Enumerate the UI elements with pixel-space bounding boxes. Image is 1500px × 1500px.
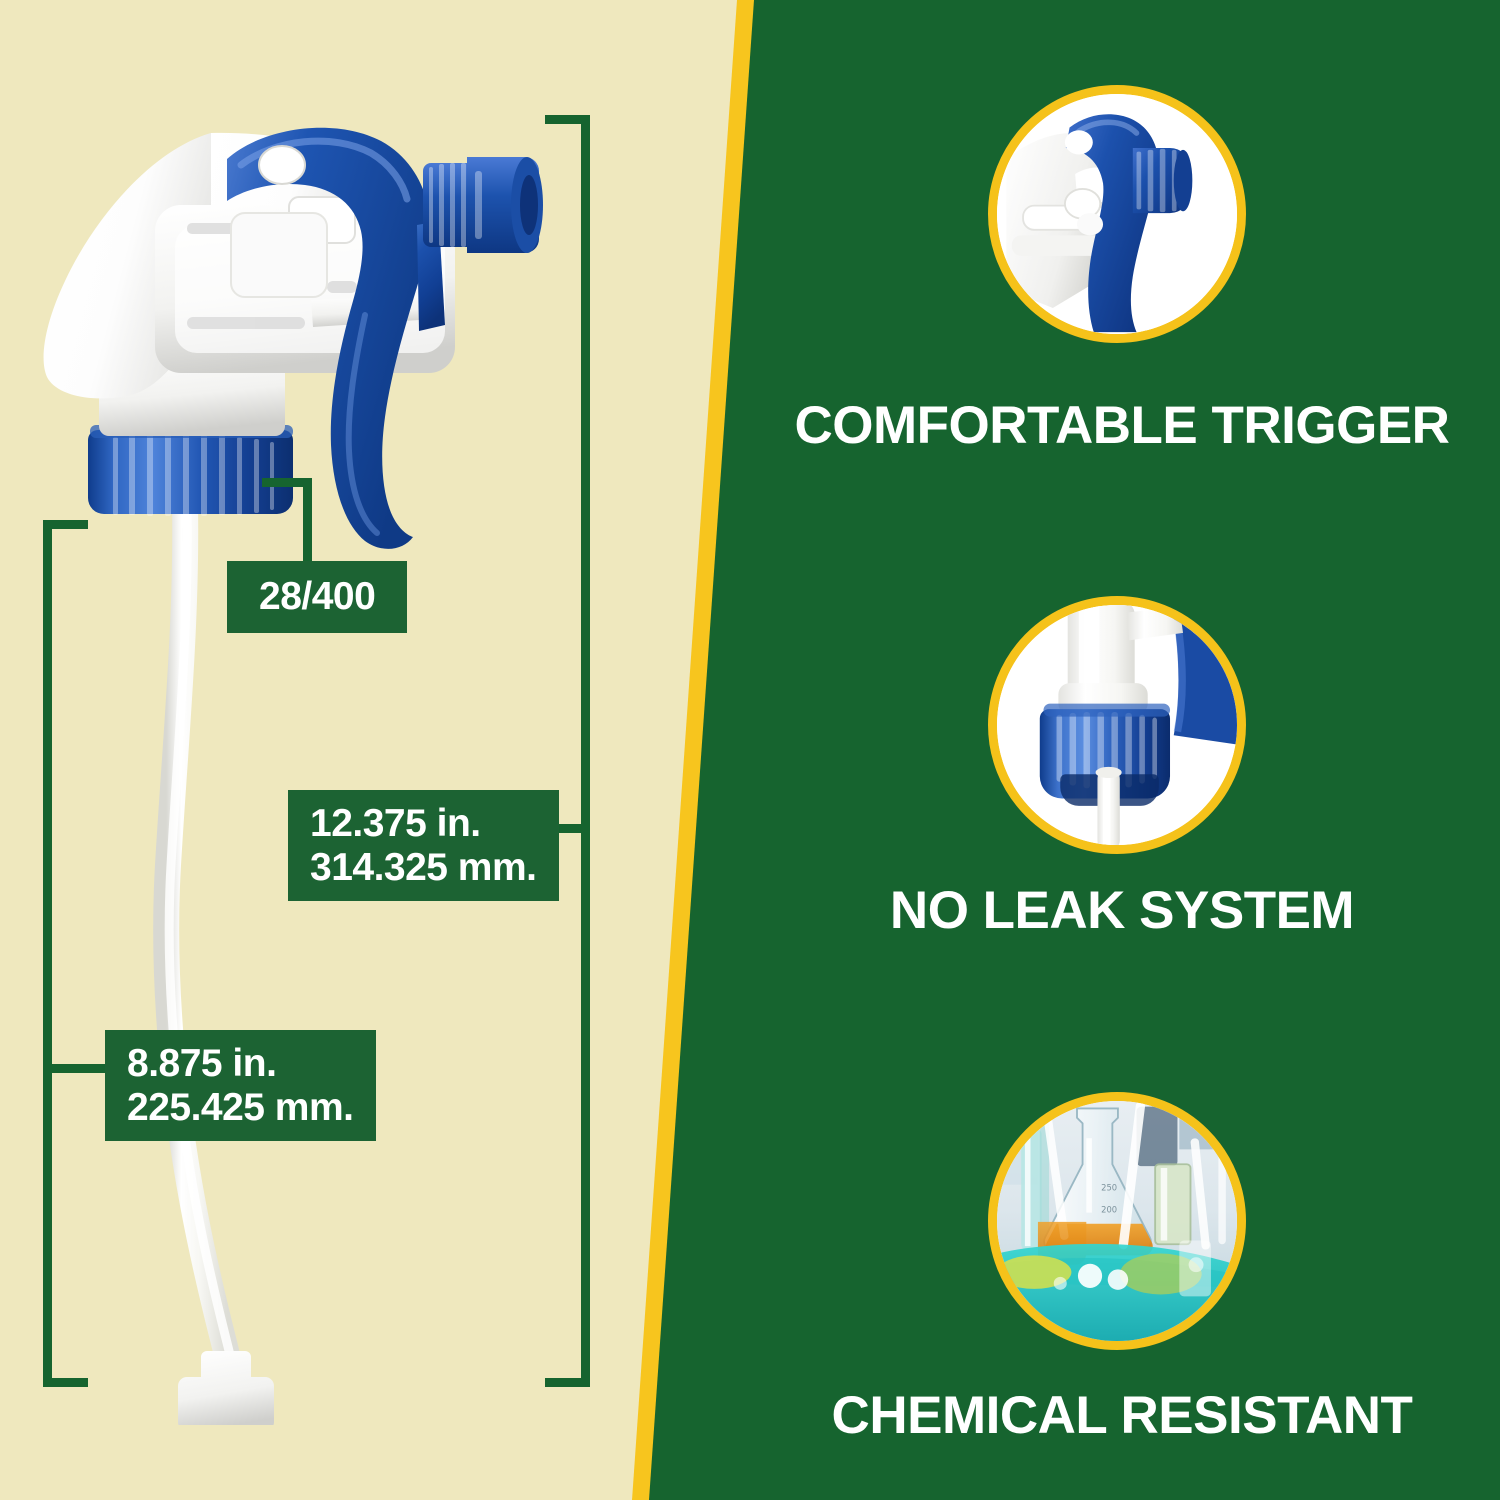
feature-image-no-leak-system [988, 596, 1246, 854]
bracket-tick-top [545, 115, 590, 124]
svg-text:200: 200 [1101, 1205, 1117, 1215]
svg-text:250: 250 [1101, 1182, 1117, 1192]
dip-tube-length-bracket [43, 520, 91, 1387]
callout-label-overall-length: 12.375 in. 314.325 mm. [288, 790, 559, 901]
feature-image-comfortable-trigger [988, 85, 1246, 343]
infographic-canvas: 28/400 12.375 in. 314.325 mm. 8.875 in. … [0, 0, 1500, 1500]
feature-image-chemical-resistant: 250 200 [988, 1092, 1246, 1350]
dip-tube-length-leader-line [43, 1064, 111, 1073]
callout-label-neck-finish: 28/400 [227, 561, 407, 633]
bracket-vertical-line [43, 520, 52, 1387]
sprayer-illustration [35, 105, 595, 1425]
closure-closeup-illustration [997, 605, 1237, 845]
bracket-tick-top [43, 520, 88, 529]
feature-title-comfortable-trigger: COMFORTABLE TRIGGER [752, 395, 1492, 456]
bracket-vertical-line [581, 115, 590, 1387]
callout-label-dip-tube-length: 8.875 in. 225.425 mm. [105, 1030, 376, 1141]
product-image-trigger-sprayer [35, 105, 595, 1425]
trigger-closeup-illustration [997, 94, 1237, 334]
lab-glassware-illustration: 250 200 [997, 1101, 1237, 1341]
bracket-tick-bottom [545, 1378, 590, 1387]
feature-title-chemical-resistant: CHEMICAL RESISTANT [752, 1385, 1492, 1446]
overall-length-bracket [540, 115, 590, 1387]
dip-tube-foot [178, 1351, 274, 1425]
feature-title-no-leak-system: NO LEAK SYSTEM [752, 880, 1492, 941]
bracket-tick-bottom [43, 1378, 88, 1387]
spray-nozzle [423, 157, 543, 253]
